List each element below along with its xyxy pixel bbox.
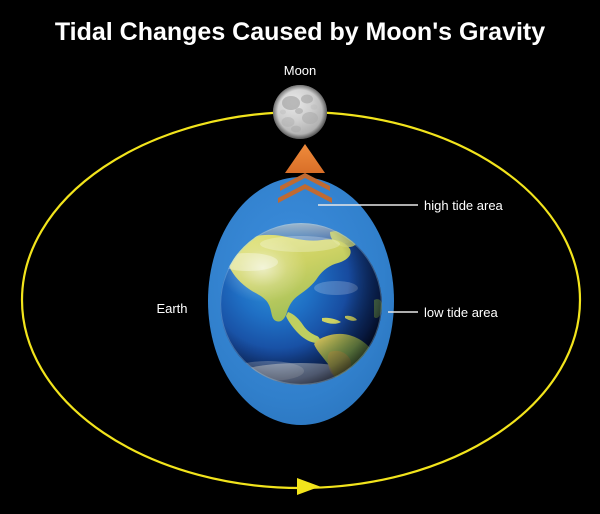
moon-edge-shading	[273, 85, 327, 139]
moon-label: Moon	[284, 63, 317, 78]
diagram-canvas: Tidal Changes Caused by Moon's Gravity	[0, 0, 600, 514]
earth-label: Earth	[156, 301, 187, 316]
low-tide-area-label: low tide area	[424, 305, 498, 320]
moon-body	[273, 85, 327, 139]
page-title: Tidal Changes Caused by Moon's Gravity	[55, 18, 545, 46]
tidal-diagram-svg: Tidal Changes Caused by Moon's Gravity	[0, 0, 600, 514]
high-tide-area-label: high tide area	[424, 198, 504, 213]
